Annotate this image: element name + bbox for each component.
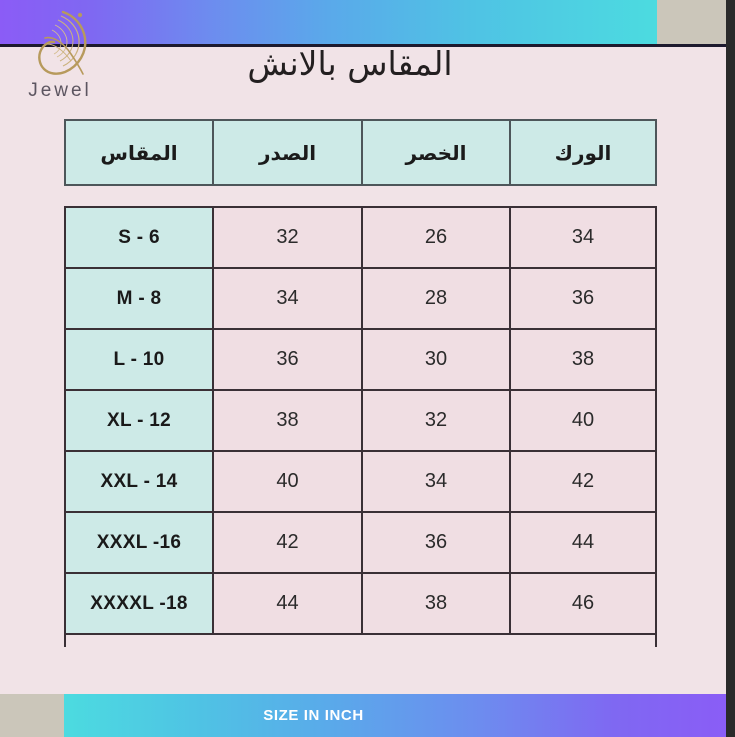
page-title: المقاس بالانش	[0, 44, 700, 83]
column-header-chest: الصدر	[214, 121, 363, 184]
column-header-waist: الخصر	[363, 121, 511, 184]
size-chart-page: Jewel المقاس بالانش المقاس الصدر الخصر ا…	[0, 0, 735, 737]
table-body: S - 6 32 26 34 M - 8 34 28 36 L - 10 36 …	[64, 206, 657, 647]
cell-hip: 38	[511, 330, 655, 389]
cell-size: S - 6	[66, 208, 214, 267]
footer-label: SIZE IN INCH	[0, 694, 735, 737]
cell-size: XXL - 14	[66, 452, 214, 511]
cell-waist: 38	[363, 574, 511, 633]
top-decorative-band	[0, 0, 735, 44]
cell-waist: 30	[363, 330, 511, 389]
footer-band: SIZE IN INCH	[0, 694, 735, 737]
cell-chest: 32	[214, 208, 363, 267]
cell-waist: 28	[363, 269, 511, 328]
table-row: XL - 12 38 32 40	[66, 391, 655, 452]
cell-size: L - 10	[66, 330, 214, 389]
cell-chest: 36	[214, 330, 363, 389]
cell-size: M - 8	[66, 269, 214, 328]
table-row: XXXXL -18 44 38 46	[66, 574, 655, 635]
table-row: M - 8 34 28 36	[66, 269, 655, 330]
cell-size: XL - 12	[66, 391, 214, 450]
table-row: XXL - 14 40 34 42	[66, 452, 655, 513]
cell-hip: 46	[511, 574, 655, 633]
cell-hip: 36	[511, 269, 655, 328]
brand-name: Jewel	[12, 80, 108, 102]
right-edge-strip	[726, 0, 735, 737]
cell-hip: 44	[511, 513, 655, 572]
cell-hip: 42	[511, 452, 655, 511]
cell-size: XXXL -16	[66, 513, 214, 572]
cell-chest: 42	[214, 513, 363, 572]
cell-hip: 40	[511, 391, 655, 450]
header-body-gap	[64, 186, 657, 206]
column-header-hip: الورك	[511, 121, 655, 184]
cell-size: XXXXL -18	[66, 574, 214, 633]
cell-waist: 34	[363, 452, 511, 511]
cell-waist: 36	[363, 513, 511, 572]
cell-hip: 34	[511, 208, 655, 267]
cell-waist: 26	[363, 208, 511, 267]
table-row: L - 10 36 30 38	[66, 330, 655, 391]
cell-chest: 38	[214, 391, 363, 450]
cell-chest: 34	[214, 269, 363, 328]
cell-waist: 32	[363, 391, 511, 450]
table-row: XXXL -16 42 36 44	[66, 513, 655, 574]
table-header-row: المقاس الصدر الخصر الورك	[64, 119, 657, 186]
cell-chest: 40	[214, 452, 363, 511]
size-chart-table: المقاس الصدر الخصر الورك S - 6 32 26 34 …	[64, 119, 657, 647]
cell-chest: 44	[214, 574, 363, 633]
table-row: S - 6 32 26 34	[66, 208, 655, 269]
column-header-size: المقاس	[66, 121, 214, 184]
